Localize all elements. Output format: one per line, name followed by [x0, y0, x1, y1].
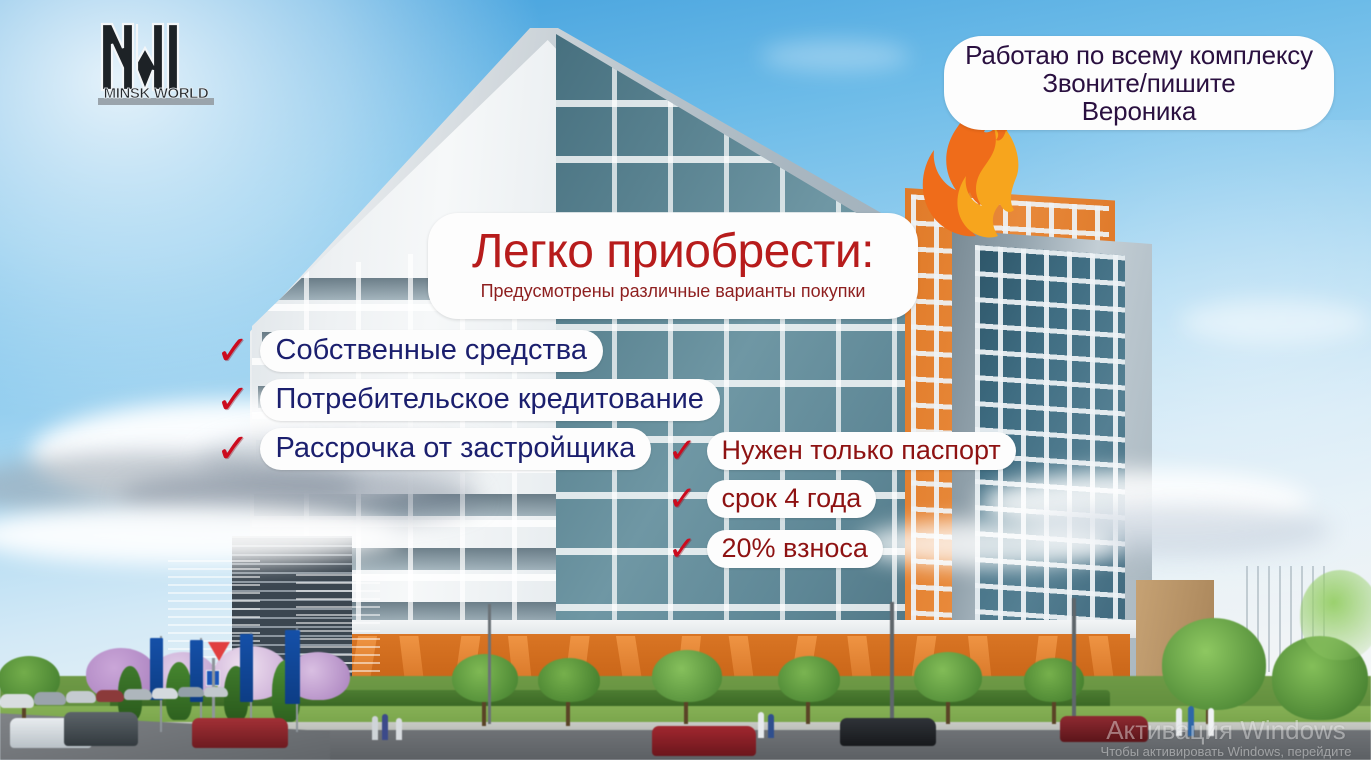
installment-term-label: срок 4 года [707, 480, 877, 518]
background-building [1136, 580, 1214, 684]
cloud [1180, 300, 1370, 344]
installment-term-label: 20% взноса [707, 530, 883, 568]
check-icon: ✓ [668, 434, 697, 468]
headline-title: Легко приобрести: [472, 225, 874, 279]
contact-line-1: Работаю по всему комплексу [965, 41, 1313, 69]
background-building [168, 560, 260, 696]
headline-callout: Легко приобрести: Предусмотрены различны… [428, 213, 918, 319]
payment-option-3[interactable]: ✓ Рассрочка от застройщика [216, 428, 651, 470]
installment-term-3[interactable]: ✓ 20% взноса [668, 530, 883, 568]
installment-term-1[interactable]: ✓ Нужен только паспорт [668, 432, 1016, 470]
check-icon: ✓ [216, 331, 250, 371]
payment-option-label: Рассрочка от застройщика [260, 428, 652, 470]
payment-option-1[interactable]: ✓ Собственные средства [216, 330, 603, 372]
check-icon: ✓ [216, 380, 250, 420]
installment-term-label: Нужен только паспорт [707, 432, 1016, 470]
headline-subtitle: Предусмотрены различные варианты покупки [481, 280, 866, 302]
installment-term-2[interactable]: ✓ срок 4 года [668, 480, 876, 518]
cloud [760, 40, 910, 72]
contact-callout[interactable]: Работаю по всему комплексу Звоните/пишит… [944, 36, 1334, 130]
check-icon: ✓ [668, 532, 697, 566]
payment-option-label: Потребительское кредитование [260, 379, 720, 421]
logo-wordmark: MINSK WORLD [104, 85, 209, 102]
cloud [860, 520, 1120, 568]
minsk-world-logo: MINSK WORLD [92, 18, 222, 118]
contact-line-2: Звоните/пишите [1042, 69, 1235, 97]
promo-image-canvas: MINSK WORLD Работаю по всему комплексу З… [0, 0, 1371, 760]
payment-option-2[interactable]: ✓ Потребительское кредитование [216, 379, 720, 421]
background-building [1246, 566, 1332, 672]
background-building [296, 574, 380, 698]
contact-line-3: Вероника [1082, 97, 1196, 125]
payment-option-label: Собственные средства [260, 330, 603, 372]
check-icon: ✓ [216, 429, 250, 469]
check-icon: ✓ [668, 482, 697, 516]
